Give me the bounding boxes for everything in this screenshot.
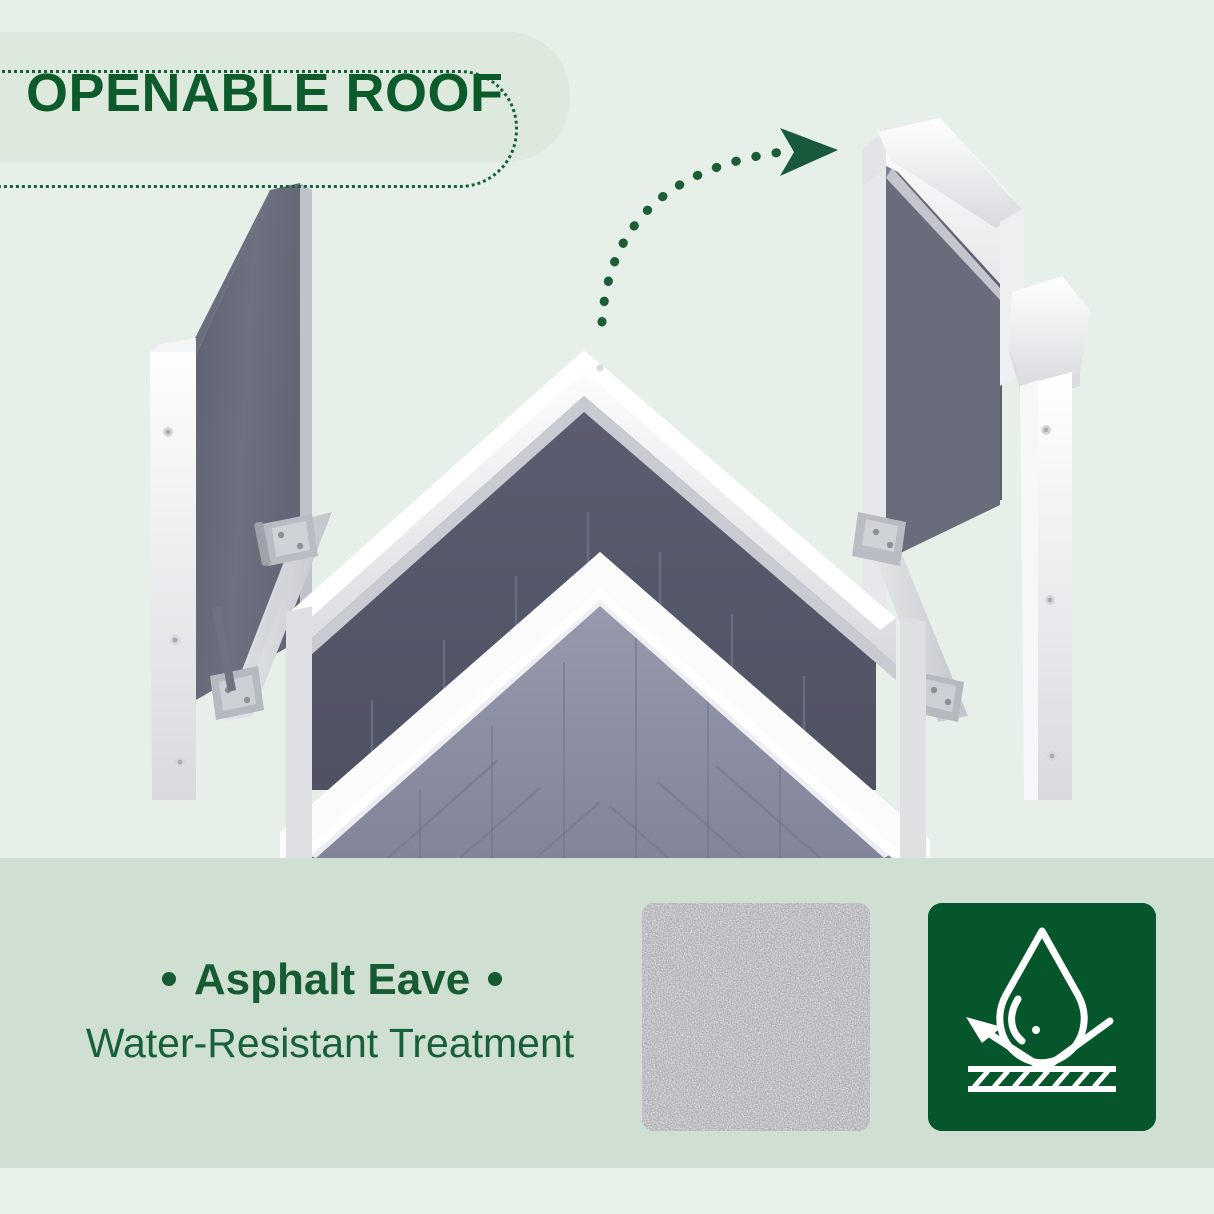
feature-title: Asphalt Eave xyxy=(62,955,602,1005)
bottom-background xyxy=(0,1168,1214,1214)
droplet-highlight-dot xyxy=(1032,1026,1040,1034)
water-resistant-icon-swatch xyxy=(928,903,1156,1131)
feature-title-label: Asphalt Eave xyxy=(194,955,470,1004)
openable-roof-arrow xyxy=(570,110,850,340)
right-roof-panel xyxy=(862,118,1090,800)
product-feature-image: OPENABLE ROOF Asphalt Eave Water-Resista… xyxy=(0,0,1214,1214)
page-title: OPENABLE ROOF xyxy=(26,62,504,124)
asphalt-texture-swatch xyxy=(642,903,870,1131)
bullet-right-icon xyxy=(488,972,502,986)
bullet-left-icon xyxy=(162,972,176,986)
feature-subtitle: Water-Resistant Treatment xyxy=(40,1020,620,1067)
